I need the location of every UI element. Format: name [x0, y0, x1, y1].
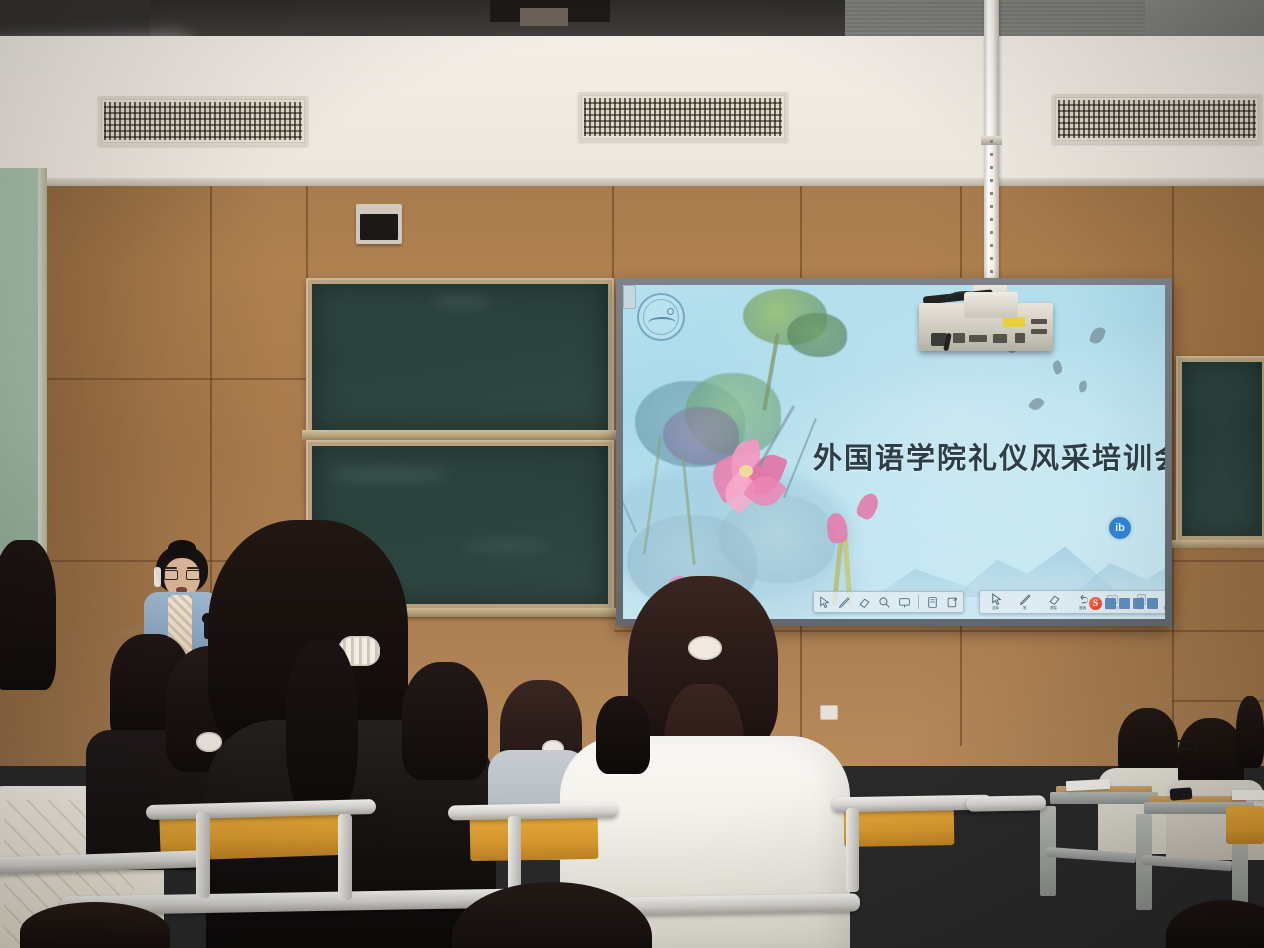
audience-head	[0, 540, 56, 690]
blackboard-surface	[312, 284, 608, 430]
lotus-bud	[859, 493, 879, 521]
glasses-lens	[186, 570, 200, 580]
presenter-hair-bun	[168, 540, 196, 556]
hair-scrunchie	[688, 636, 722, 660]
bench-rail	[966, 795, 1046, 811]
vent-grille	[584, 98, 782, 136]
vent-left	[98, 96, 308, 146]
side-wall-green	[0, 168, 40, 588]
ceiling-patch-detail	[520, 8, 568, 26]
lotus-petal	[825, 512, 849, 544]
classroom-photo: 外国语学院礼仪风采培训会 ib	[0, 0, 1264, 948]
eyebrow	[187, 567, 199, 569]
vent-center	[578, 92, 788, 142]
seal-mark	[648, 317, 676, 329]
bench-rail	[448, 803, 618, 821]
projector-port	[953, 333, 965, 343]
projector-label	[1003, 317, 1025, 327]
seal-dot	[667, 308, 674, 315]
chalk-smudge	[330, 468, 450, 482]
smartphone	[1170, 787, 1193, 801]
blackboard-side-ledge	[1172, 540, 1264, 548]
chalk-smudge	[432, 296, 492, 308]
slide-title: 外国语学院礼仪风采培训会	[813, 435, 1165, 477]
glasses-icon	[164, 570, 200, 580]
glasses-icon	[1176, 740, 1198, 750]
desk-frame	[1050, 792, 1158, 804]
speaker-grille	[360, 214, 398, 240]
vent-grille	[104, 102, 302, 140]
eyebrow	[165, 567, 177, 569]
projector-pole-mount	[964, 292, 1018, 318]
blackboard-surface	[1182, 362, 1262, 536]
lotus-bud	[827, 509, 849, 543]
wall-seam	[612, 186, 614, 286]
lotus-petal	[854, 490, 882, 521]
wall-seam	[306, 186, 308, 286]
presenter-earring	[154, 567, 161, 587]
glasses-lens	[164, 570, 178, 580]
seat-support	[338, 814, 352, 900]
wall-speaker	[356, 204, 402, 244]
blackboard-side	[1176, 356, 1264, 542]
side-wall-edge	[38, 168, 47, 588]
smartboard-bezel: 外国语学院礼仪风采培训会 ib	[616, 278, 1172, 626]
projection-screen[interactable]: 外国语学院礼仪风采培训会 ib	[623, 285, 1165, 619]
blackboard-divider	[302, 430, 618, 440]
pole-adjustment-holes	[990, 140, 993, 290]
lotus-leaf	[787, 313, 847, 357]
projector-port	[969, 335, 987, 342]
seat-cushion	[470, 815, 599, 861]
projector-port	[1031, 319, 1047, 324]
seat-cushion	[1226, 806, 1264, 844]
slide-badge-icon[interactable]: ib	[1109, 517, 1131, 539]
paper	[1232, 790, 1264, 800]
projector-port	[1031, 329, 1047, 334]
vent-grille	[1058, 100, 1256, 138]
audience-head	[402, 662, 488, 780]
audience-head	[1236, 696, 1264, 768]
seated-audience	[0, 600, 1264, 948]
lotus-blossom	[705, 431, 791, 509]
vent-right	[1052, 94, 1262, 144]
audience-head	[596, 696, 650, 774]
seat-support	[846, 808, 859, 892]
blackboard-upper	[306, 278, 614, 436]
projector-port	[1015, 333, 1025, 343]
audience-head-foreground	[1166, 900, 1264, 948]
university-seal-icon	[637, 293, 685, 341]
lotus-center	[739, 465, 753, 477]
projector-port	[993, 334, 1007, 343]
seat-support	[196, 812, 210, 898]
chalk-smudge	[462, 541, 552, 551]
